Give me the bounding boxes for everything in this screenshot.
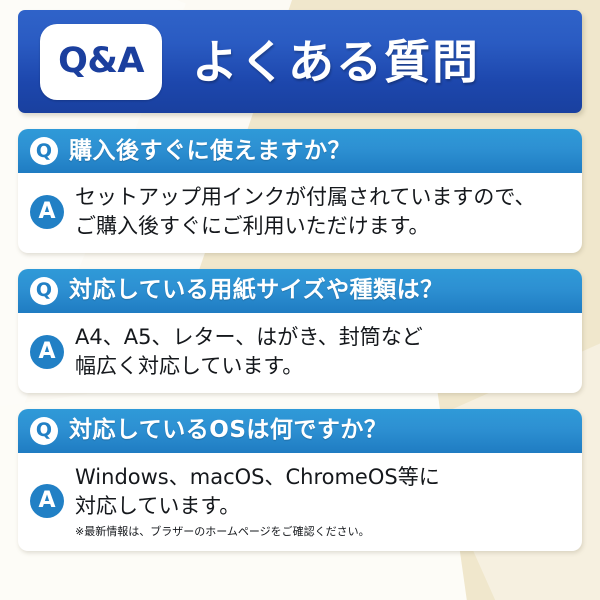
answer-row: A セットアップ用インクが付属されていますので、 ご購入後すぐにご利用いただけま… bbox=[18, 173, 582, 253]
faq-item: Q 対応している用紙サイズや種類は？ A A4、A5、レター、はがき、封筒など … bbox=[18, 269, 582, 393]
question-marker-icon: Q bbox=[30, 277, 58, 305]
answer-line: ご購入後すぐにご利用いただけます。 bbox=[75, 212, 536, 241]
question-bar: Q 対応しているOSは何ですか？ bbox=[18, 409, 582, 453]
question-marker-icon: Q bbox=[30, 417, 58, 445]
answer-body: Windows、macOS、ChromeOS等に 対応しています。 ※最新情報は… bbox=[75, 463, 440, 539]
answer-marker-icon: A bbox=[30, 335, 64, 369]
answer-body: セットアップ用インクが付属されていますので、 ご購入後すぐにご利用いただけます。 bbox=[75, 183, 536, 241]
question-text: 対応している用紙サイズや種類は？ bbox=[69, 279, 444, 302]
answer-line: 対応しています。 bbox=[75, 492, 440, 521]
answer-row: A Windows、macOS、ChromeOS等に 対応しています。 ※最新情… bbox=[18, 453, 582, 551]
faq-list: Q 購入後すぐに使えますか？ A セットアップ用インクが付属されていますので、 … bbox=[18, 129, 582, 567]
answer-line: 幅広く対応しています。 bbox=[75, 352, 423, 381]
page-title: よくある質問 bbox=[192, 39, 480, 85]
question-text: 購入後すぐに使えますか？ bbox=[69, 140, 351, 163]
faq-item: Q 購入後すぐに使えますか？ A セットアップ用インクが付属されていますので、 … bbox=[18, 129, 582, 253]
answer-line: セットアップ用インクが付属されていますので、 bbox=[75, 183, 536, 212]
answer-marker-icon: A bbox=[30, 195, 64, 229]
answer-marker-icon: A bbox=[30, 484, 64, 518]
question-text: 対応しているOSは何ですか？ bbox=[69, 419, 387, 442]
question-marker-icon: Q bbox=[30, 137, 58, 165]
qa-badge-label: Q&A bbox=[58, 44, 144, 79]
header-banner: Q&A よくある質問 bbox=[18, 10, 582, 113]
answer-line: Windows、macOS、ChromeOS等に bbox=[75, 463, 440, 492]
faq-page: Q&A よくある質問 Q 購入後すぐに使えますか？ A セットアップ用インクが付… bbox=[0, 0, 600, 600]
question-bar: Q 購入後すぐに使えますか？ bbox=[18, 129, 582, 173]
faq-item: Q 対応しているOSは何ですか？ A Windows、macOS、ChromeO… bbox=[18, 409, 582, 551]
answer-row: A A4、A5、レター、はがき、封筒など 幅広く対応しています。 bbox=[18, 313, 582, 393]
question-bar: Q 対応している用紙サイズや種類は？ bbox=[18, 269, 582, 313]
answer-body: A4、A5、レター、はがき、封筒など 幅広く対応しています。 bbox=[75, 323, 423, 381]
answer-footnote: ※最新情報は、ブラザーのホームページをご確認ください。 bbox=[75, 524, 440, 539]
qa-badge: Q&A bbox=[40, 24, 162, 100]
answer-line: A4、A5、レター、はがき、封筒など bbox=[75, 323, 423, 352]
